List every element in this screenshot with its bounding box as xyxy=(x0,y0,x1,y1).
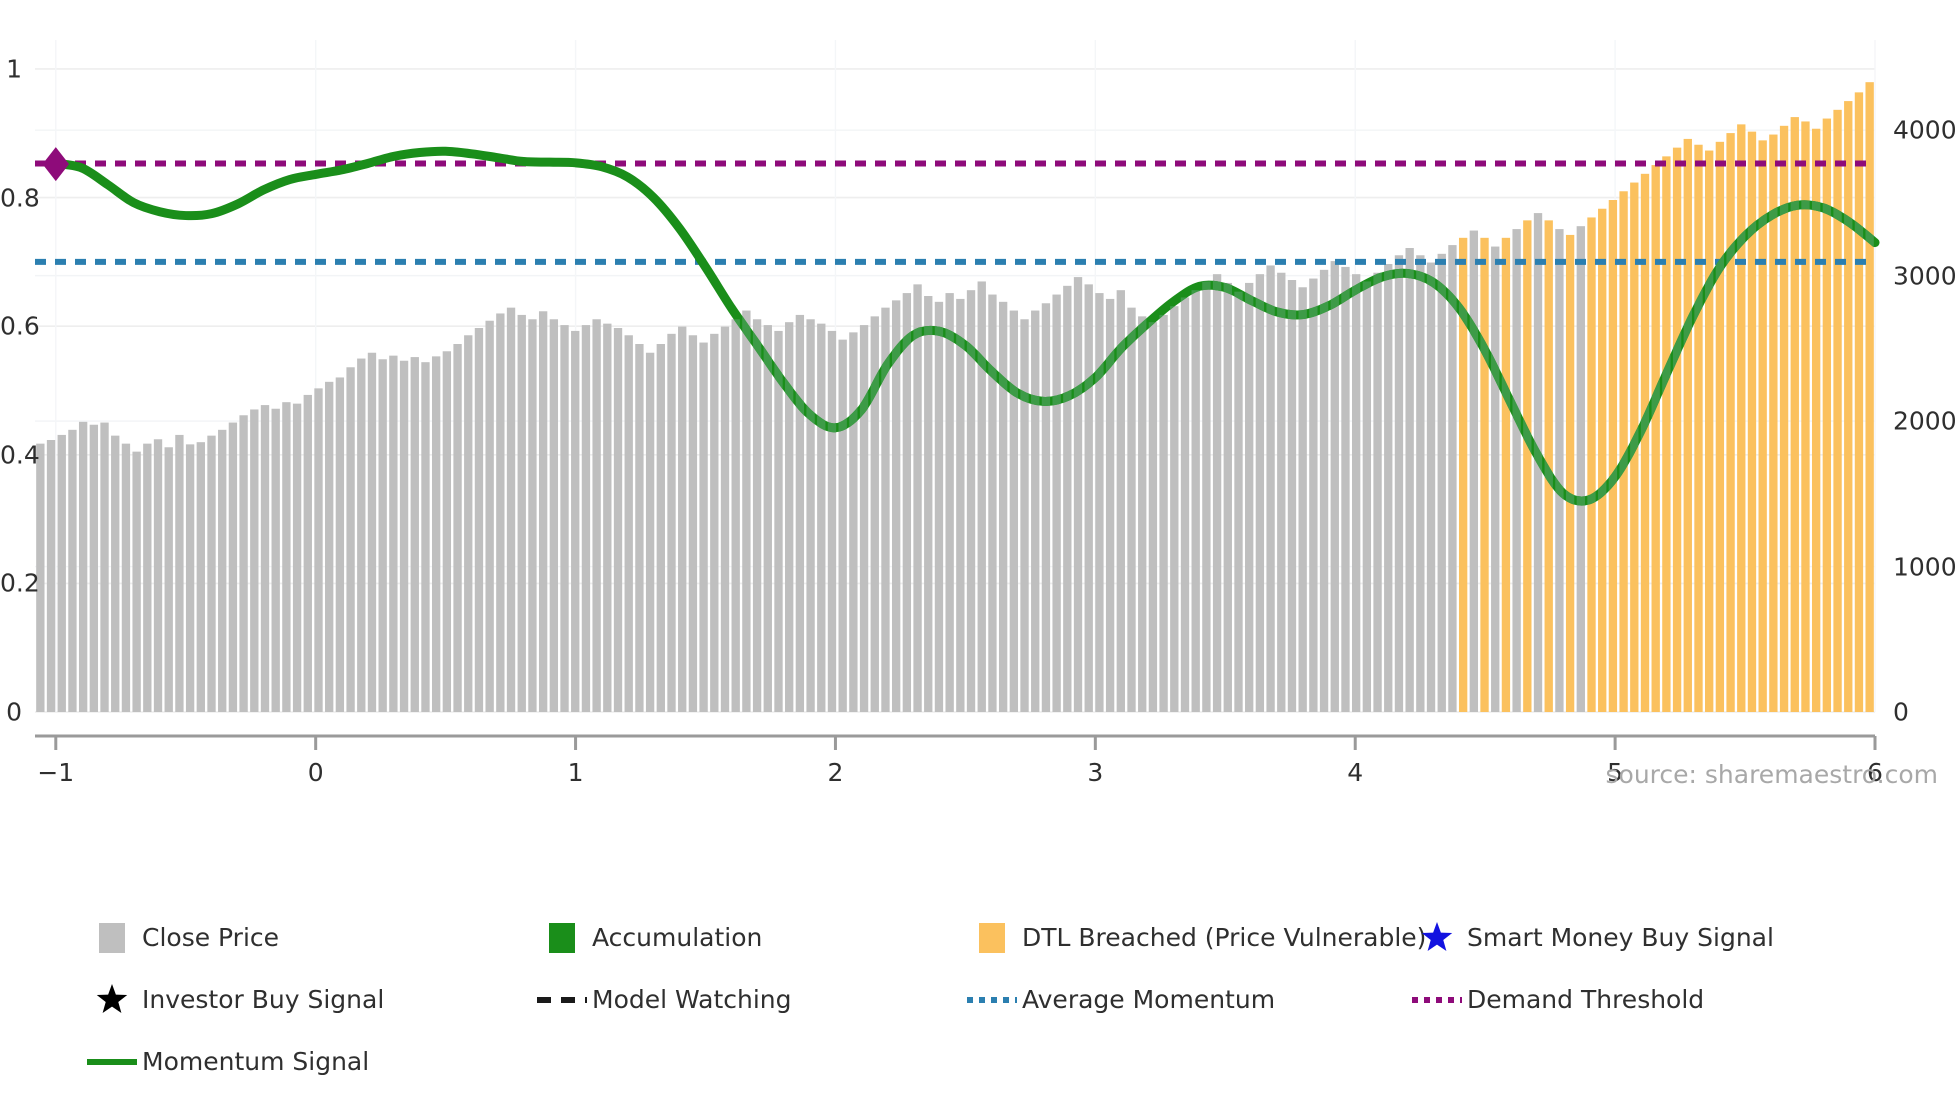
close-price-bar xyxy=(132,452,140,712)
close-price-bar xyxy=(913,284,921,712)
accumulation-swatch xyxy=(532,923,592,953)
y-axis-right-tick-label: 1000 xyxy=(1893,554,1957,579)
x-axis-tick-label: −1 xyxy=(37,760,74,785)
legend-label: Momentum Signal xyxy=(142,1049,369,1074)
close-price-bar xyxy=(507,308,515,712)
smart-money-star-icon xyxy=(1407,921,1467,955)
y-axis-right-tick-label: 4000 xyxy=(1893,118,1957,143)
close-price-bar xyxy=(1491,247,1499,712)
dtl-breached-bar xyxy=(1865,82,1873,712)
legend-row: Close PriceAccumulationDTL Breached (Pri… xyxy=(82,922,1942,953)
close-price-bar xyxy=(1448,245,1456,712)
close-price-bar xyxy=(764,325,772,712)
close-price-bar xyxy=(1427,263,1435,712)
close-price-bar xyxy=(165,447,173,712)
close-price-bar xyxy=(1010,311,1018,712)
close-price-bar xyxy=(592,319,600,712)
close-price-bar xyxy=(689,335,697,712)
dtl-breached-bar xyxy=(1609,200,1617,712)
dtl-breached-bar xyxy=(1566,235,1574,712)
plot-area xyxy=(35,40,1875,712)
close-price-bar xyxy=(1352,274,1360,712)
close-price-bar xyxy=(550,319,558,712)
legend-item[interactable]: Momentum Signal xyxy=(82,1046,369,1077)
close-price-bar xyxy=(400,361,408,712)
close-price-bar xyxy=(1299,287,1307,712)
close-price-bar xyxy=(90,425,98,712)
star-glyph xyxy=(1422,922,1452,951)
dtl-breached-bar xyxy=(1673,148,1681,712)
legend-item[interactable]: DTL Breached (Price Vulnerable) xyxy=(962,922,1426,953)
close-price-bar xyxy=(1127,308,1135,712)
dtl-breached-bar xyxy=(1502,238,1510,712)
close-price-bar xyxy=(143,444,151,712)
close-price-bar xyxy=(1170,306,1178,712)
close-price-bar xyxy=(582,325,590,712)
close-price-bar xyxy=(988,295,996,712)
dtl-breached-bar xyxy=(1833,110,1841,712)
dtl-breached-bar xyxy=(1587,217,1595,712)
dtl-breached-bar xyxy=(1480,238,1488,712)
close-price-bar xyxy=(496,313,504,712)
close-price-bar xyxy=(817,324,825,712)
source-credit: source: sharemaestro.com xyxy=(1606,760,1939,789)
close-price-bar xyxy=(1266,265,1274,712)
close-price-bar xyxy=(625,335,633,712)
dtl-breached-bar xyxy=(1726,133,1734,712)
close-price-bar xyxy=(1224,283,1232,712)
close-price-bar xyxy=(1149,322,1157,712)
close-price-bar xyxy=(1416,255,1424,712)
dtl-breached-bar xyxy=(1812,129,1820,712)
close-price-bar xyxy=(218,430,226,712)
purple-diamond-marker xyxy=(43,147,70,181)
close-price-bar xyxy=(1384,264,1392,712)
close-price-bar xyxy=(924,296,932,712)
close-price-bar xyxy=(1320,270,1328,712)
dtl-breached-bar xyxy=(1684,139,1692,712)
close-price-bar xyxy=(742,311,750,712)
close-price-bar xyxy=(732,319,740,712)
dtl-breached-swatch xyxy=(962,923,1022,953)
close-price-bar xyxy=(357,359,365,712)
close-price-bar xyxy=(1063,286,1071,712)
dtl-breached-bar xyxy=(1748,132,1756,712)
y-axis-left-tick-label: 1 xyxy=(0,56,22,81)
close-price-bar xyxy=(379,359,387,712)
close-price-bar xyxy=(368,353,376,712)
y-axis-right-tick-label: 3000 xyxy=(1893,263,1957,288)
legend-row: Investor Buy SignalModel WatchingAverage… xyxy=(82,953,1942,984)
y-axis-left-tick-label: 0 xyxy=(0,700,22,725)
y-axis-left-tick-label: 0.2 xyxy=(0,571,22,596)
close-price-bar xyxy=(1288,280,1296,712)
star-svg xyxy=(1420,921,1454,955)
x-axis-tick-label: 2 xyxy=(827,760,843,785)
close-price-bar xyxy=(346,367,354,712)
close-price-bar xyxy=(678,327,686,712)
close-price-bar xyxy=(154,439,162,712)
close-price-bar xyxy=(710,334,718,712)
close-price-bar xyxy=(1577,226,1585,712)
close-price-bar xyxy=(1031,311,1039,712)
close-price-bar xyxy=(1138,316,1146,712)
close-price-bar xyxy=(839,340,847,712)
close-price-bar xyxy=(935,302,943,712)
close-price-bar xyxy=(1256,274,1264,712)
close-price-bar xyxy=(1020,319,1028,712)
close-price-bar xyxy=(453,344,461,712)
close-price-bar xyxy=(860,325,868,712)
dtl-breached-bar xyxy=(1855,92,1863,712)
close-price-bar xyxy=(432,356,440,712)
close-price-bar xyxy=(421,362,429,712)
dtl-breached-bar xyxy=(1598,209,1606,712)
close-price-bar xyxy=(79,422,87,712)
close-price-bar xyxy=(261,405,269,712)
close-price-bar xyxy=(100,423,108,712)
close-price-bar xyxy=(272,409,280,712)
close-price-bar xyxy=(699,343,707,712)
legend-item[interactable]: Smart Money Buy Signal xyxy=(1407,922,1774,953)
close-price-bar xyxy=(475,328,483,712)
close-price-bar xyxy=(1202,281,1210,712)
close-price-bar xyxy=(314,388,322,712)
close-price-bar xyxy=(539,311,547,712)
y-axis-right-tick-label: 2000 xyxy=(1893,409,1957,434)
close-price-bar xyxy=(1395,255,1403,712)
swatch-line xyxy=(87,1059,137,1065)
dtl-breached-bar xyxy=(1737,124,1745,712)
close-price-bar xyxy=(111,436,119,712)
close-price-bar xyxy=(485,321,493,712)
legend-label: Accumulation xyxy=(592,925,762,950)
close-price-bar xyxy=(1052,295,1060,712)
close-price-bar xyxy=(1341,267,1349,712)
close-price-bar xyxy=(721,327,729,712)
close-price-bar xyxy=(58,435,66,712)
chart-legend: Close PriceAccumulationDTL Breached (Pri… xyxy=(82,922,1942,1015)
close-price-bar xyxy=(753,319,761,712)
close-price-bar xyxy=(1181,297,1189,712)
close-price-bar xyxy=(1085,284,1093,712)
close-price-bar xyxy=(796,315,804,712)
close-price-bar xyxy=(325,382,333,712)
swatch-rect xyxy=(549,923,575,953)
close-price-bar xyxy=(1074,277,1082,712)
swatch-rect xyxy=(979,923,1005,953)
close-price-bar xyxy=(1095,293,1103,712)
close-price-bar xyxy=(336,377,344,712)
dtl-breached-bar xyxy=(1523,220,1531,712)
close-price-bar xyxy=(47,440,55,712)
close-price-bar xyxy=(646,353,654,712)
close-price-bar xyxy=(528,319,536,712)
dtl-breached-bar xyxy=(1641,174,1649,712)
close-price-bar xyxy=(1331,261,1339,712)
close-price-bar xyxy=(603,324,611,712)
close-price-bar xyxy=(304,395,312,712)
x-axis-tick-label: 0 xyxy=(308,760,324,785)
y-axis-left-tick-label: 0.8 xyxy=(0,185,22,210)
close-price-swatch xyxy=(82,923,142,953)
y-axis-left-tick-label: 0.6 xyxy=(0,314,22,339)
close-price-bar xyxy=(1470,231,1478,712)
close-price-bar xyxy=(186,444,194,712)
y-axis-left-tick-label: 0.4 xyxy=(0,442,22,467)
close-price-bar xyxy=(1438,254,1446,712)
legend-row: Momentum Signal xyxy=(82,984,1942,1015)
dtl-breached-bar xyxy=(1801,121,1809,712)
close-price-bar xyxy=(293,404,301,712)
close-price-bar xyxy=(849,332,857,712)
close-price-bar xyxy=(903,293,911,712)
close-price-bar xyxy=(828,331,836,712)
close-price-bar xyxy=(122,444,130,712)
close-price-bar xyxy=(614,328,622,712)
close-price-bar xyxy=(978,281,986,712)
x-axis-tick-label: 3 xyxy=(1087,760,1103,785)
close-price-bar xyxy=(1405,248,1413,712)
close-price-bar xyxy=(229,423,237,712)
x-axis-tick-label: 4 xyxy=(1347,760,1363,785)
y-axis-right-tick-label: 0 xyxy=(1893,700,1909,725)
legend-label: Close Price xyxy=(142,925,279,950)
momentum-signal-line xyxy=(82,1059,142,1065)
close-price-bar xyxy=(1042,303,1050,712)
chart-page: 00.20.40.60.81 01000200030004000 −101234… xyxy=(0,0,1960,1102)
close-price-bar xyxy=(667,334,675,712)
close-price-bar xyxy=(411,357,419,712)
x-axis-tick-label: 1 xyxy=(568,760,584,785)
legend-item[interactable]: Accumulation xyxy=(532,922,762,953)
close-price-bar xyxy=(560,325,568,712)
chart-canvas xyxy=(35,40,1875,712)
close-price-bar xyxy=(239,415,247,712)
dtl-breached-bar xyxy=(1694,145,1702,712)
close-price-bar xyxy=(1555,229,1563,712)
dtl-breached-bar xyxy=(1716,142,1724,712)
close-price-bar xyxy=(175,435,183,712)
legend-label: DTL Breached (Price Vulnerable) xyxy=(1022,925,1426,950)
close-price-bar xyxy=(774,331,782,712)
swatch-rect xyxy=(99,923,125,953)
close-price-bar xyxy=(1213,274,1221,712)
close-price-bar xyxy=(250,409,258,712)
close-price-bar xyxy=(945,293,953,712)
close-price-bar xyxy=(1309,279,1317,712)
close-price-bar xyxy=(389,356,397,712)
close-price-bar xyxy=(1512,229,1520,712)
close-price-bar xyxy=(571,331,579,712)
dtl-breached-bar xyxy=(1705,151,1713,712)
close-price-bar xyxy=(197,442,205,712)
close-price-bar xyxy=(1234,292,1242,712)
close-price-bar xyxy=(207,436,215,712)
close-price-bar xyxy=(1373,273,1381,712)
close-price-bar xyxy=(1277,273,1285,712)
dtl-breached-bar xyxy=(1652,165,1660,712)
close-price-bar xyxy=(806,319,814,712)
close-price-bar xyxy=(68,430,76,712)
close-price-bar xyxy=(282,402,290,712)
close-price-bar xyxy=(999,302,1007,712)
legend-item[interactable]: Close Price xyxy=(82,922,279,953)
close-price-bar xyxy=(635,344,643,712)
close-price-bar xyxy=(1245,283,1253,712)
legend-label: Smart Money Buy Signal xyxy=(1467,925,1774,950)
close-price-bar xyxy=(1363,281,1371,712)
dtl-breached-bar xyxy=(1844,101,1852,712)
close-price-bar xyxy=(443,351,451,712)
close-price-bar xyxy=(956,299,964,712)
close-price-bar xyxy=(1159,315,1167,712)
dtl-breached-bar xyxy=(1662,156,1670,712)
close-price-bar xyxy=(1192,290,1200,712)
close-price-bar xyxy=(464,335,472,712)
close-price-bar xyxy=(518,315,526,712)
close-price-bar xyxy=(657,344,665,712)
